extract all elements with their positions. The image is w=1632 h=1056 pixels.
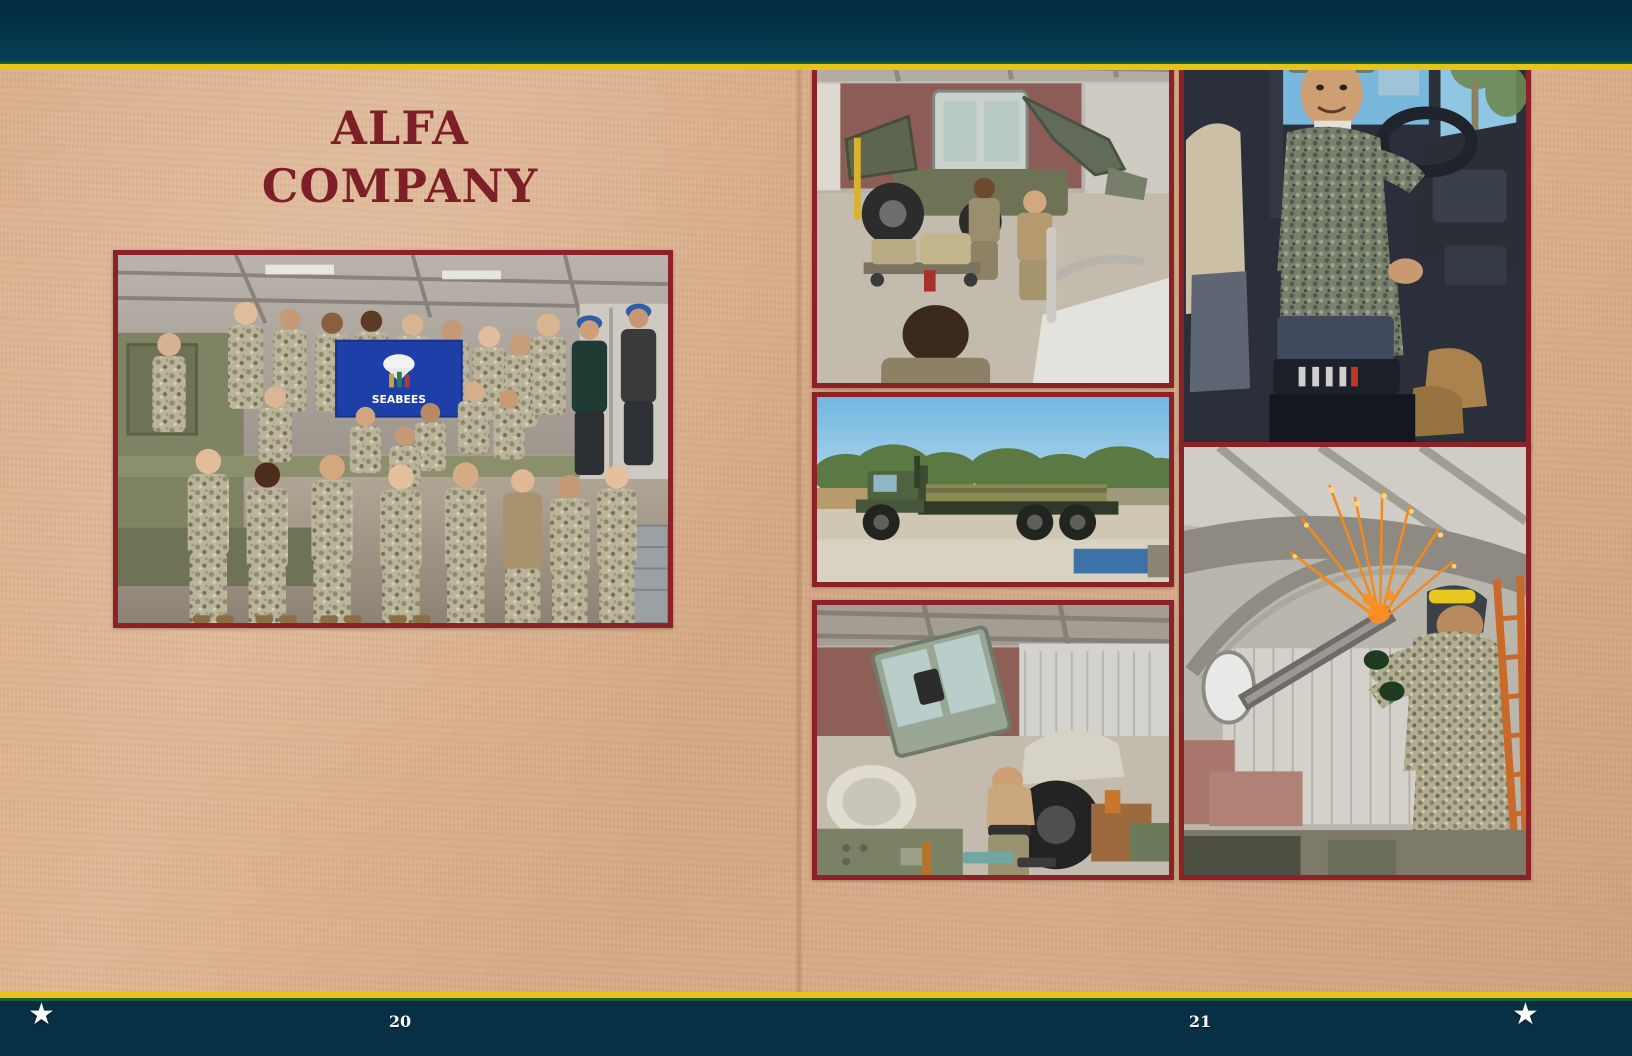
photo-canvas [1184, 23, 1526, 445]
tilted-cab-repair-photo [812, 600, 1174, 880]
backhoe-maintenance-photo [812, 18, 1174, 388]
page-title-line-2: COMPANY [120, 158, 680, 216]
vehicle-cab-operator-photo [1179, 18, 1531, 450]
header-bar [0, 0, 1632, 70]
footer-green-rule [0, 998, 1632, 1001]
photo-canvas: SEABEES [118, 255, 668, 623]
tactical-truck-photo [812, 392, 1174, 587]
photo-canvas [817, 605, 1169, 875]
page-gutter [796, 70, 802, 992]
photo-canvas [1184, 447, 1526, 875]
yearbook-spread-page: ★ ALFA COMPANY ★ ALFA COMPANY [0, 0, 1632, 1056]
page-title: ALFA COMPANY [120, 100, 680, 216]
photo-canvas [817, 397, 1169, 582]
photo-canvas [817, 23, 1169, 383]
grinding-sparks-photo [1179, 442, 1531, 880]
svg-text:SEABEES: SEABEES [372, 393, 426, 406]
alfa-company-group-photo: SEABEES [113, 250, 673, 628]
header-gold-rule [0, 64, 1632, 70]
page-title-line-1: ALFA [120, 100, 680, 158]
footer-bar [0, 1000, 1632, 1056]
